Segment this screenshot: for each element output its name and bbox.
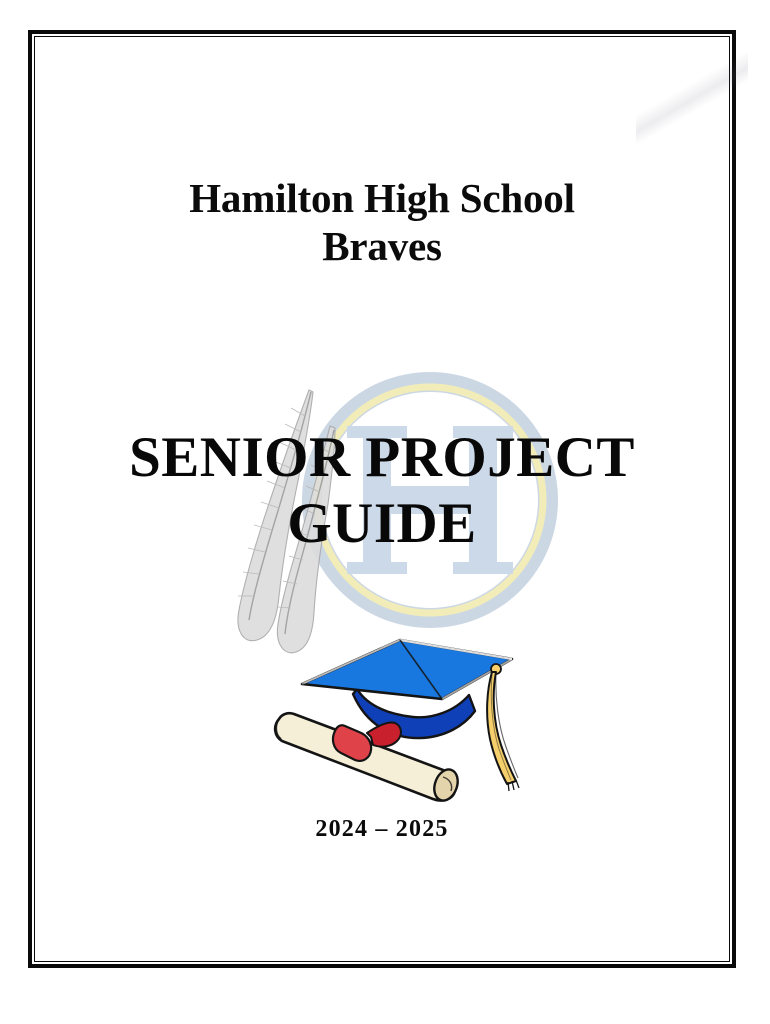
page-sheet: Hamilton High School Braves	[0, 0, 770, 1024]
school-name-line-1: Hamilton High School	[35, 175, 729, 223]
school-year-label: 2024 – 2025	[35, 816, 729, 843]
title-line-2: GUIDE	[35, 491, 729, 557]
graduation-cap-icon	[263, 627, 553, 812]
title-line-1: SENIOR PROJECT	[35, 425, 729, 491]
page-title: SENIOR PROJECT GUIDE	[35, 425, 729, 557]
cover-content: Hamilton High School Braves	[35, 37, 729, 961]
school-name-heading: Hamilton High School Braves	[35, 175, 729, 270]
school-name-line-2: Braves	[35, 223, 729, 271]
